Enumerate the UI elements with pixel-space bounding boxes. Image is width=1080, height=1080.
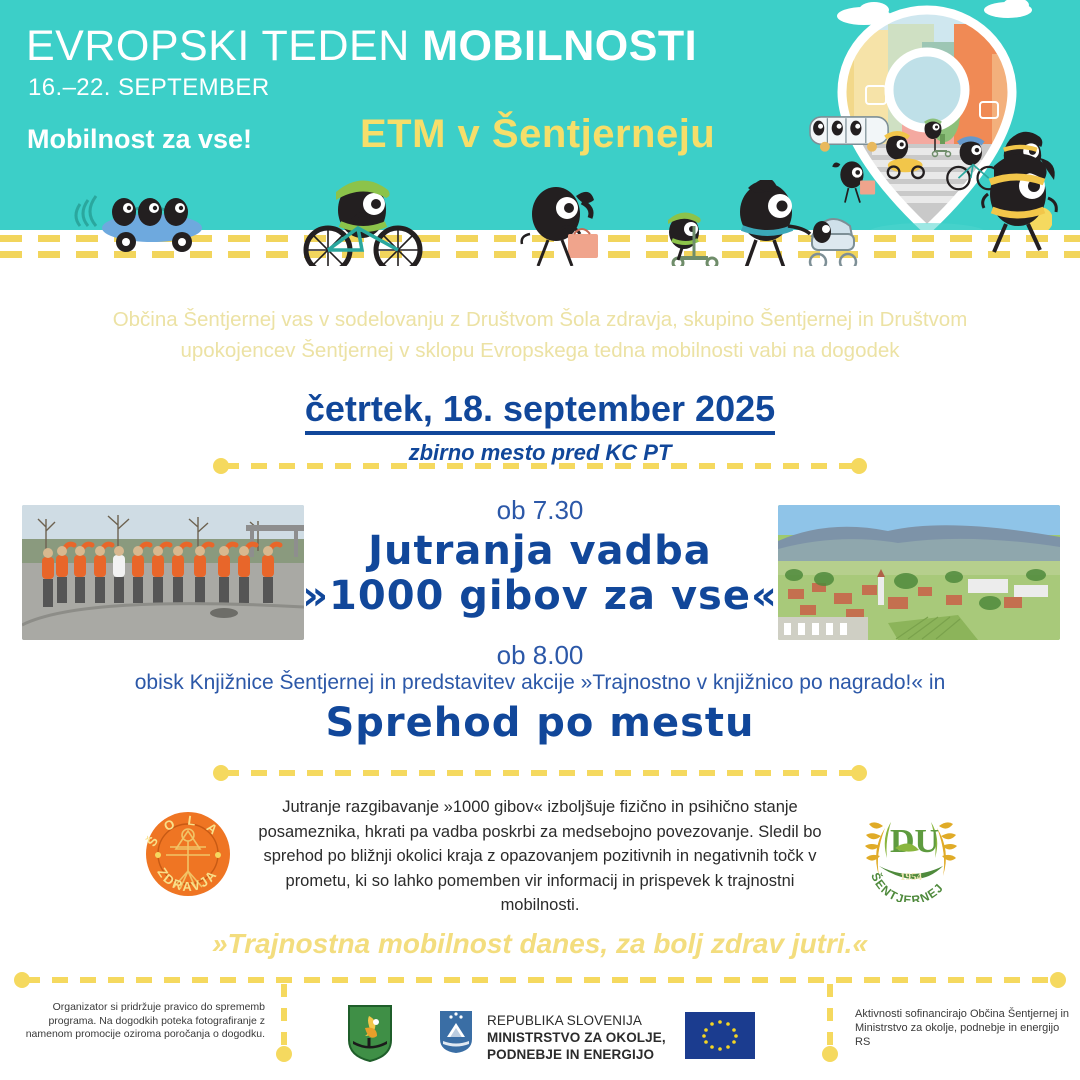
running-person-illustration — [978, 150, 1064, 265]
event-1-title-line1: Jutranja vadba — [0, 528, 1080, 574]
ministry-text: REPUBLIKA SLOVENIJA MINISTRSTVO ZA OKOLJ… — [487, 1012, 666, 1063]
logo-sola-zdravja: Š O L A ZDRAVJA — [136, 805, 240, 903]
divider-line-footer — [24, 977, 1056, 983]
logo-du-initials: DU — [890, 823, 939, 860]
poster-root: EVROPSKI TEDEN MOBILNOSTI 16.–22. SEPTEM… — [0, 0, 1080, 1080]
divider-footer — [14, 972, 1066, 988]
event-date: četrtek, 18. september 2025 — [0, 388, 1080, 430]
divider-dot-right-2 — [851, 765, 867, 781]
pedestrian-with-bag-illustration — [520, 186, 616, 266]
event-1-time: ob 7.30 — [0, 495, 1080, 526]
page-title: EVROPSKI TEDEN MOBILNOSTI — [26, 22, 697, 71]
divider-line-2 — [223, 770, 857, 776]
ministry-line-1: REPUBLIKA SLOVENIJA — [487, 1012, 666, 1029]
event-2-title-line1: Sprehod po mestu — [0, 700, 1080, 746]
vdivider-dot-right — [822, 1046, 838, 1062]
divider-line — [223, 463, 857, 469]
campaign-motto: »Trajnostna mobilnost danes, za bolj zdr… — [0, 928, 1080, 960]
event-week-dates: 16.–22. SEPTEMBER — [28, 74, 270, 102]
sentjernej-coat-of-arms — [347, 1004, 393, 1062]
hero-banner: EVROPSKI TEDEN MOBILNOSTI 16.–22. SEPTEM… — [0, 0, 1080, 266]
ministry-line-3: PODNEBJE IN ENERGIJO — [487, 1046, 666, 1063]
divider-dot-right — [851, 458, 867, 474]
child-on-scooter-illustration — [662, 212, 734, 266]
cyclist-illustration — [300, 176, 424, 266]
event-date-text: četrtek, 18. september 2025 — [305, 388, 775, 435]
divider-vertical-left — [276, 984, 292, 1062]
local-event-title: ETM v Šentjerneju — [360, 112, 715, 157]
title-bold: MOBILNOSTI — [422, 22, 697, 70]
event-2-detail: obisk Knjižnice Šentjernej in predstavit… — [0, 671, 1080, 695]
intro-paragraph: Občina Šentjernej vas v sodelovanju z Dr… — [108, 304, 972, 366]
parent-with-stroller-illustration — [730, 180, 864, 266]
footer-disclaimer: Organizator si pridržuje pravico do spre… — [20, 1001, 265, 1042]
description-paragraph: Jutranje razgibavanje »1000 gibov« izbol… — [258, 795, 822, 918]
eu-flag — [685, 1012, 755, 1059]
title-light: EVROPSKI TEDEN — [26, 22, 422, 70]
divider-dot-footer-right — [1050, 972, 1066, 988]
divider-top — [213, 458, 867, 474]
ministry-line-2: MINISTRSTVO ZA OKOLJE, — [487, 1029, 666, 1046]
vdivider-line-right — [827, 984, 833, 1048]
logo-du-sentjernej: DU 1954 ŠENTJERNEJ — [857, 800, 965, 902]
vdivider-dot-left — [276, 1046, 292, 1062]
logo-du-year: 1954 — [900, 871, 923, 883]
event-1-title-line2: »1000 gibov za vse« — [0, 573, 1080, 619]
campaign-slogan: Mobilnost za vse! — [27, 124, 252, 155]
slovenia-emblem — [438, 1009, 474, 1055]
car-with-passengers-illustration — [72, 186, 222, 263]
divider-vertical-right — [822, 984, 838, 1062]
vdivider-line-left — [281, 984, 287, 1048]
event-2-time: ob 8.00 — [0, 640, 1080, 671]
divider-bottom — [213, 765, 867, 781]
footer-funding-note: Aktivnosti sofinancirajo Občina Šentjern… — [855, 1007, 1070, 1049]
